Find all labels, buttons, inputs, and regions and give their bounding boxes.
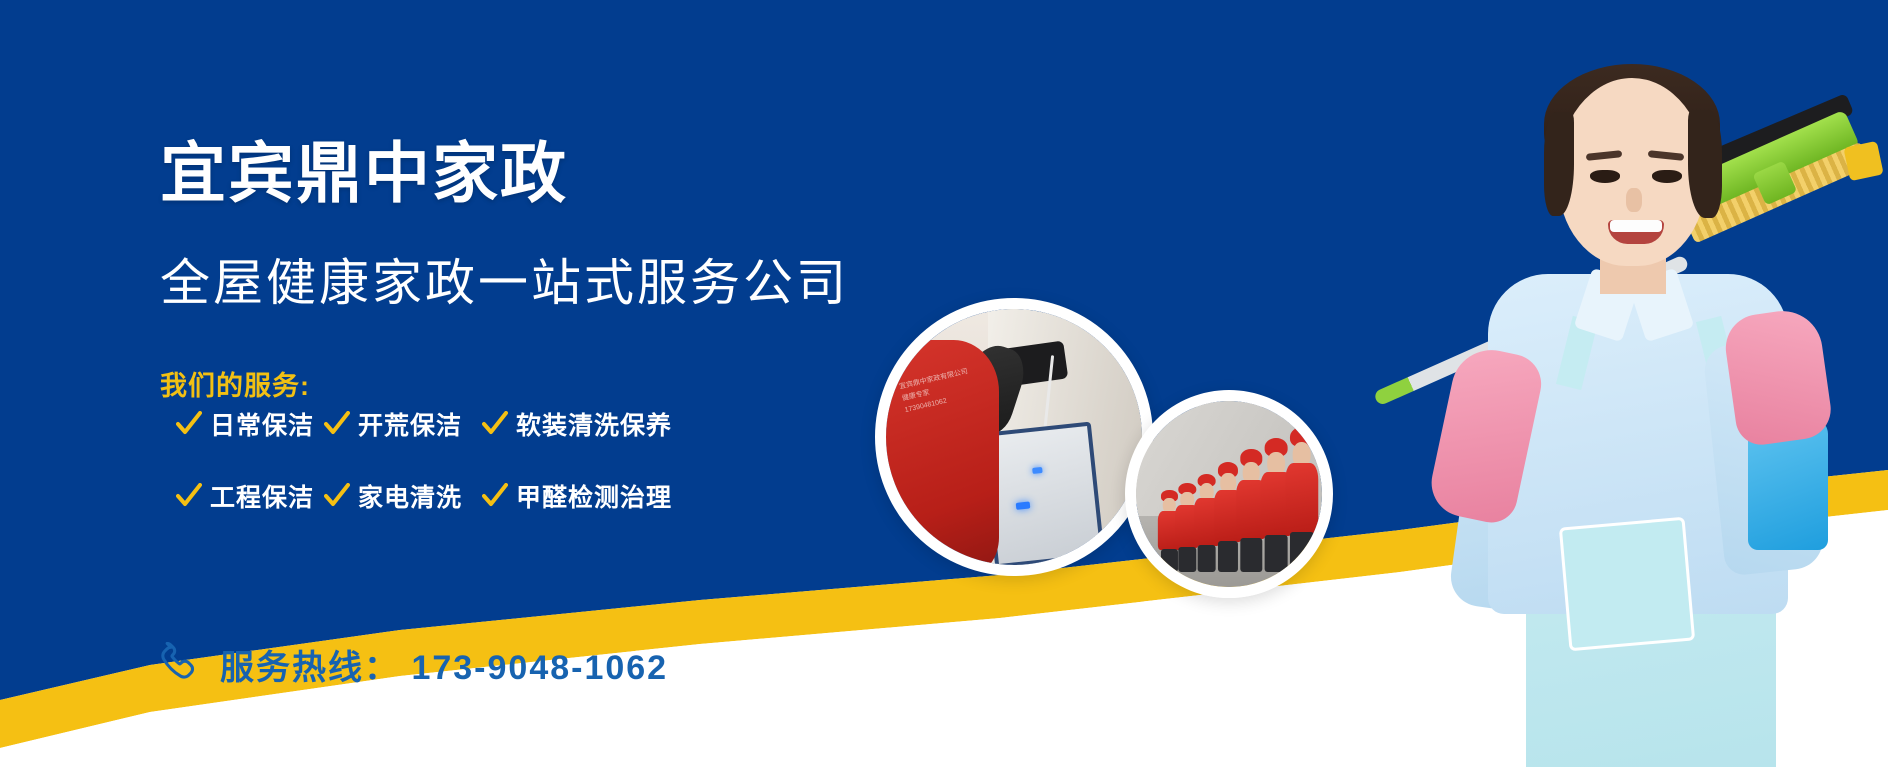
phone-icon: [158, 642, 204, 688]
check-icon: [482, 483, 508, 509]
service-label: 日常保洁: [210, 406, 314, 442]
service-label: 甲醛检测治理: [516, 478, 672, 514]
figure-nose: [1626, 188, 1642, 212]
service-item-project-cleaning[interactable]: 工程保洁: [176, 478, 324, 514]
hotline-text: 服务热线： 173-9048-1062: [220, 640, 668, 689]
figure-mouth: [1608, 220, 1664, 244]
photo-led-indicator: [1016, 501, 1031, 509]
squeegee-tip: [1843, 141, 1883, 181]
figure-eye: [1590, 170, 1620, 183]
photo-scene-team: [1136, 401, 1322, 587]
service-item-post-renovation-cleaning[interactable]: 开荒保洁: [324, 406, 482, 442]
photo-scene-technician: 宜宾鼎中家政有限公司 健康专家 17390481062: [886, 309, 1142, 565]
service-item-formaldehyde-treatment[interactable]: 甲醛检测治理: [482, 478, 672, 514]
photo-circle-team: [1125, 390, 1333, 598]
service-item-appliance-cleaning[interactable]: 家电清洗: [324, 478, 482, 514]
cleaning-staff-figure: [1368, 60, 1888, 767]
check-icon: [324, 483, 350, 509]
check-icon: [176, 483, 202, 509]
photo-equipment-case: [982, 421, 1106, 565]
page-subtitle: 全屋健康家政一站式服务公司: [160, 258, 849, 308]
promo-banner: 宜宾鼎中家政 全屋健康家政一站式服务公司 我们的服务: 日常保洁 开荒保洁 软装…: [0, 0, 1888, 767]
check-icon: [176, 411, 202, 437]
service-label: 开荒保洁: [358, 406, 462, 442]
hotline-block[interactable]: 服务热线： 173-9048-1062: [158, 640, 668, 689]
photo-circle-technician: 宜宾鼎中家政有限公司 健康专家 17390481062: [875, 298, 1153, 576]
figure-hair-side: [1544, 112, 1574, 216]
check-icon: [324, 411, 350, 437]
figure-eye: [1652, 170, 1682, 183]
service-label: 软装清洗保养: [516, 406, 672, 442]
photo-frame: 宜宾鼎中家政有限公司 健康专家 17390481062: [886, 309, 1142, 565]
figure-hair-side: [1688, 110, 1722, 218]
photo-frame: [1136, 401, 1322, 587]
figure-apron-pocket: [1559, 517, 1695, 652]
check-icon: [482, 411, 508, 437]
services-heading: 我们的服务:: [160, 364, 310, 403]
service-item-soft-furnishing-cleaning[interactable]: 软装清洗保养: [482, 406, 672, 442]
photo-team-member: [1285, 427, 1318, 572]
page-title: 宜宾鼎中家政: [160, 140, 568, 206]
services-list: 日常保洁 开荒保洁 软装清洗保养 工程保洁 家电清洗: [176, 406, 672, 514]
service-label: 家电清洗: [358, 478, 462, 514]
service-label: 工程保洁: [210, 478, 314, 514]
service-item-daily-cleaning[interactable]: 日常保洁: [176, 406, 324, 442]
figure-right-glove: [1721, 306, 1834, 448]
figure-teeth: [1610, 220, 1662, 232]
photo-led-indicator: [1032, 467, 1043, 474]
